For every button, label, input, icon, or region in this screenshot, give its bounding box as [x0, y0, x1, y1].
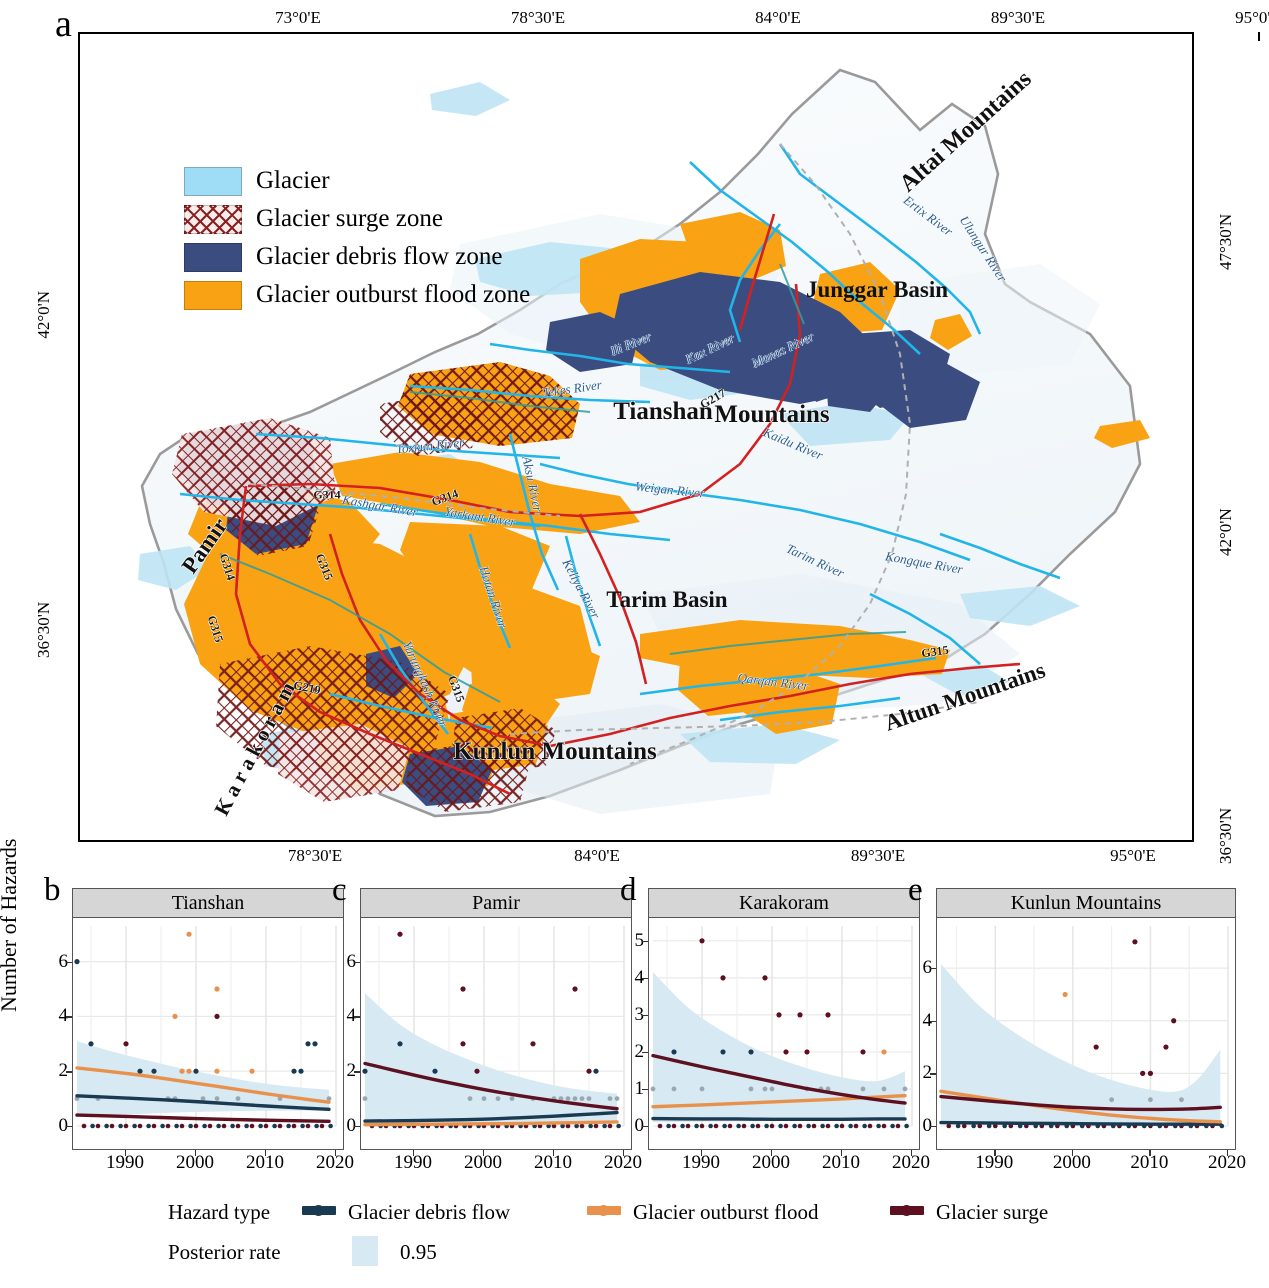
- zero-point: [152, 1124, 157, 1129]
- posterior-band-b: [77, 1041, 329, 1116]
- data-point: [214, 1014, 219, 1019]
- y-tick-mark: [642, 1015, 648, 1016]
- data-point: [861, 1087, 866, 1092]
- legend-label-glacier-outburst-flood: Glacier outburst flood: [633, 1200, 818, 1225]
- data-point: [748, 1049, 753, 1054]
- glacier-debris-flow-swatch: [184, 243, 242, 272]
- glacier-outburst-flood-swatch: [184, 281, 242, 310]
- map-legend: Glacier Glacier surge zone Glacier debri…: [184, 162, 530, 314]
- y-tick-mark: [354, 962, 360, 963]
- data-point: [482, 1096, 487, 1101]
- data-point: [249, 1069, 254, 1074]
- zero-point: [848, 1124, 853, 1129]
- zero-point: [188, 1124, 193, 1129]
- map-lat-tick-left-1: 36°30'N: [34, 602, 54, 658]
- map-tick-top-4: [1258, 32, 1260, 41]
- zero-point: [230, 1124, 235, 1129]
- legend-label-glacier-outburst-flood-zone: Glacier outburst flood zone: [256, 281, 530, 309]
- zero-point: [272, 1124, 277, 1129]
- trend-line-glacier-debris-flow: [941, 1123, 1220, 1125]
- data-point: [193, 1069, 198, 1074]
- zero-point: [680, 1124, 685, 1129]
- data-point: [573, 1096, 578, 1101]
- zero-point: [90, 1124, 95, 1129]
- zero-point: [258, 1124, 263, 1129]
- y-tick-mark: [642, 941, 648, 942]
- zero-point: [124, 1124, 129, 1129]
- panel-b-letter: b: [44, 872, 61, 909]
- x-tick-mark: [483, 1150, 484, 1156]
- data-point: [763, 1087, 768, 1092]
- plot-svg-e: [937, 918, 1234, 1150]
- panel-e-letter: e: [908, 872, 923, 909]
- data-point: [474, 1069, 479, 1074]
- data-point: [651, 1087, 656, 1092]
- data-point: [566, 1096, 571, 1101]
- plot-svg-b: [73, 918, 342, 1150]
- data-point: [762, 975, 767, 980]
- zero-point: [834, 1124, 839, 1129]
- map-lat-tick-right-2: 36°30'N: [1216, 804, 1236, 864]
- zero-point: [300, 1124, 305, 1129]
- data-point: [468, 1096, 473, 1101]
- map-frame: Glacier Glacier surge zone Glacier debri…: [78, 32, 1194, 842]
- trend-line-glacier-debris-flow: [653, 1119, 905, 1120]
- data-point: [236, 1096, 241, 1101]
- zero-point: [194, 1124, 199, 1129]
- zero-point: [736, 1124, 741, 1129]
- data-point: [363, 1096, 368, 1101]
- x-tick-mark: [335, 1150, 336, 1156]
- zero-point: [608, 1124, 613, 1129]
- data-point: [460, 1041, 465, 1046]
- x-tick-mark: [125, 1150, 126, 1156]
- data-point: [305, 1041, 310, 1046]
- zero-point: [694, 1124, 699, 1129]
- zero-point: [812, 1124, 817, 1129]
- y-axis-label: Number of Hazards: [0, 839, 22, 1013]
- legend-label-glacier-debris-flow: Glacier debris flow: [348, 1200, 510, 1225]
- data-point: [88, 1041, 93, 1046]
- plot-area-e: [936, 918, 1236, 1150]
- data-point: [214, 986, 219, 991]
- zero-point: [666, 1124, 671, 1129]
- chart-panel-e: Kunlun Mountains02461990200020102020: [936, 888, 1236, 1150]
- panel-a-map: a 73°0'E78°30'E84°0'E89°30'E95°0'E 78°30…: [0, 0, 1269, 862]
- zero-point: [174, 1124, 179, 1129]
- zero-point: [244, 1124, 249, 1129]
- data-point: [530, 1041, 535, 1046]
- hazard-trend-panels: Number of Hazards bTianshan0246199020002…: [0, 862, 1269, 1192]
- y-tick-mark: [66, 1126, 72, 1127]
- zero-point: [328, 1124, 333, 1129]
- data-point: [397, 1041, 402, 1046]
- hazard-type-label: Hazard type: [168, 1200, 270, 1225]
- data-point: [671, 1049, 676, 1054]
- data-point: [783, 1049, 788, 1054]
- zero-point: [672, 1124, 677, 1129]
- zero-point: [750, 1124, 755, 1129]
- chart-title-d: Karakoram: [648, 888, 920, 918]
- data-point: [291, 1069, 296, 1074]
- y-tick-mark: [354, 1071, 360, 1072]
- data-point: [720, 975, 725, 980]
- data-point: [510, 1096, 515, 1101]
- x-tick-mark: [413, 1150, 414, 1156]
- zero-point: [806, 1124, 811, 1129]
- legend-item-glacier-surge-zone: Glacier surge zone: [184, 200, 530, 238]
- legend-label-glacier: Glacier: [256, 167, 330, 195]
- plot-area-d: [648, 918, 920, 1150]
- panel-a-letter: a: [55, 2, 72, 46]
- zero-point: [820, 1124, 825, 1129]
- zero-point: [602, 1124, 607, 1129]
- legend-dot-glacier-debris-flow: [313, 1205, 324, 1216]
- data-point: [700, 1087, 705, 1092]
- map-lon-tick-top-1: 78°30'E: [511, 8, 565, 28]
- x-tick-mark: [553, 1150, 554, 1156]
- map-lat-tick-right-0: 47°30'N: [1216, 210, 1236, 270]
- data-point: [699, 938, 704, 943]
- zero-point: [868, 1124, 873, 1129]
- data-point: [186, 932, 191, 937]
- x-tick-mark: [1227, 1150, 1228, 1156]
- x-tick-mark: [623, 1150, 624, 1156]
- y-tick-mark: [354, 1126, 360, 1127]
- zero-point: [278, 1124, 283, 1129]
- zero-point: [714, 1124, 719, 1129]
- plot-svg-c: [361, 918, 630, 1150]
- zero-point: [896, 1124, 901, 1129]
- data-point: [1140, 1071, 1145, 1076]
- data-point: [749, 1087, 754, 1092]
- data-point: [186, 1069, 191, 1074]
- zero-point: [708, 1124, 713, 1129]
- data-point: [860, 1049, 865, 1054]
- zero-point: [882, 1124, 887, 1129]
- zero-point: [82, 1124, 87, 1129]
- x-tick-mark: [841, 1150, 842, 1156]
- zero-point: [146, 1124, 151, 1129]
- map-canvas: [80, 34, 1192, 840]
- data-point: [397, 932, 402, 937]
- zero-point: [286, 1124, 291, 1129]
- x-tick-mark: [911, 1150, 912, 1156]
- data-point: [1163, 1044, 1168, 1049]
- zero-point: [96, 1124, 101, 1129]
- legend-item-glacier-debris-flow-zone: Glacier debris flow zone: [184, 238, 530, 276]
- data-point: [1179, 1097, 1184, 1102]
- data-point: [460, 986, 465, 991]
- chart-title-c: Pamir: [360, 888, 632, 918]
- data-point: [587, 1096, 592, 1101]
- x-tick-mark: [265, 1150, 266, 1156]
- zero-point: [166, 1124, 171, 1129]
- data-point: [720, 1049, 725, 1054]
- zero-point: [138, 1124, 143, 1129]
- zero-point: [110, 1124, 115, 1129]
- zero-point: [250, 1124, 255, 1129]
- data-point: [214, 1069, 219, 1074]
- zero-point: [588, 1124, 593, 1129]
- zero-point: [890, 1124, 895, 1129]
- zero-point: [792, 1124, 797, 1129]
- y-tick-mark: [930, 1073, 936, 1074]
- zero-point: [180, 1124, 185, 1129]
- zero-point: [764, 1124, 769, 1129]
- legend-label-glacier-debris-flow-zone: Glacier debris flow zone: [256, 243, 502, 271]
- zero-point: [208, 1124, 213, 1129]
- zero-point: [770, 1124, 775, 1129]
- plot-area-b: [72, 918, 344, 1150]
- data-point: [882, 1087, 887, 1092]
- legend-label-glacier-surge: Glacier surge: [936, 1200, 1048, 1225]
- data-point: [362, 1069, 367, 1074]
- data-point: [137, 1069, 142, 1074]
- legend-label-glacier-surge-zone: Glacier surge zone: [256, 205, 443, 233]
- glacier-swatch: [184, 167, 242, 196]
- posterior-rate-label: Posterior rate: [168, 1240, 281, 1265]
- data-point: [776, 1012, 781, 1017]
- figure-root: a 73°0'E78°30'E84°0'E89°30'E95°0'E 78°30…: [0, 0, 1269, 1288]
- zero-point: [742, 1124, 747, 1129]
- zero-point: [236, 1124, 241, 1129]
- y-tick-mark: [930, 1126, 936, 1127]
- data-point: [432, 1069, 437, 1074]
- data-point: [608, 1096, 613, 1101]
- x-tick-mark: [1072, 1150, 1073, 1156]
- legend-item-glacier-outburst-flood-zone: Glacier outburst flood zone: [184, 276, 530, 314]
- zero-point: [202, 1124, 207, 1129]
- map-lon-tick-top-0: 73°0'E: [275, 8, 321, 28]
- zero-point: [778, 1124, 783, 1129]
- bottom-legend: Hazard type Posterior rate Glacier debri…: [0, 1192, 1269, 1288]
- zero-point: [320, 1124, 325, 1129]
- data-point: [797, 1012, 802, 1017]
- map-lat-tick-left-0: 42°0'N: [34, 291, 54, 347]
- data-point: [1109, 1097, 1114, 1102]
- y-tick-mark: [66, 1016, 72, 1017]
- panel-d-letter: d: [620, 872, 637, 909]
- posterior-rate-value: 0.95: [400, 1240, 437, 1265]
- zero-point: [104, 1124, 109, 1129]
- plot-svg-d: [649, 918, 918, 1150]
- data-point: [1063, 992, 1068, 997]
- map-lon-tick-top-3: 89°30'E: [991, 8, 1045, 28]
- data-point: [1148, 1097, 1153, 1102]
- chart-panel-d: Karakoram0123451990200020102020: [648, 888, 920, 1150]
- data-point: [1148, 1071, 1153, 1076]
- zero-point: [118, 1124, 123, 1129]
- zero-point: [876, 1124, 881, 1129]
- zero-point: [160, 1124, 165, 1129]
- zero-point: [700, 1124, 705, 1129]
- legend-dot-glacier-outburst-flood: [598, 1205, 609, 1216]
- data-point: [123, 1041, 128, 1046]
- zero-point: [722, 1124, 727, 1129]
- data-point: [770, 1087, 775, 1092]
- data-point: [298, 1069, 303, 1074]
- zero-point: [132, 1124, 137, 1129]
- y-tick-mark: [354, 1016, 360, 1017]
- x-tick-mark: [994, 1150, 995, 1156]
- data-point: [586, 1069, 591, 1074]
- zero-point: [826, 1124, 831, 1129]
- zero-point: [222, 1124, 227, 1129]
- zero-point: [862, 1124, 867, 1129]
- data-point: [1171, 1018, 1176, 1023]
- zero-point: [904, 1124, 909, 1129]
- map-lon-tick-top-2: 84°0'E: [755, 8, 801, 28]
- map-lon-tick-top-4: 95°0'E: [1235, 8, 1269, 28]
- y-tick-mark: [642, 1089, 648, 1090]
- data-point: [172, 1014, 177, 1019]
- chart-title-b: Tianshan: [72, 888, 344, 918]
- data-point: [580, 1096, 585, 1101]
- y-tick-mark: [642, 1126, 648, 1127]
- y-tick-mark: [66, 1071, 72, 1072]
- x-tick-mark: [701, 1150, 702, 1156]
- zero-point: [306, 1124, 311, 1129]
- zero-point: [314, 1124, 319, 1129]
- y-tick-mark: [66, 962, 72, 963]
- x-tick-mark: [771, 1150, 772, 1156]
- glacier-surge-swatch: [184, 205, 242, 234]
- data-point: [1132, 939, 1137, 944]
- data-point: [593, 1069, 598, 1074]
- chart-panel-b: Tianshan02461990200020102020: [72, 888, 344, 1150]
- plot-area-c: [360, 918, 632, 1150]
- data-point: [74, 959, 79, 964]
- data-point: [179, 1069, 184, 1074]
- data-point: [312, 1041, 317, 1046]
- y-tick-mark: [930, 968, 936, 969]
- zero-point: [216, 1124, 221, 1129]
- legend-dot-glacier-surge: [901, 1205, 912, 1216]
- zero-point: [616, 1124, 621, 1129]
- y-tick-mark: [642, 978, 648, 979]
- panel-c-letter: c: [332, 872, 347, 909]
- map-lat-tick-right-1: 42°0'N: [1216, 496, 1236, 556]
- zero-point: [728, 1124, 733, 1129]
- zero-point: [798, 1124, 803, 1129]
- y-tick-mark: [930, 1021, 936, 1022]
- x-tick-mark: [195, 1150, 196, 1156]
- zero-point: [580, 1124, 585, 1129]
- data-point: [881, 1049, 886, 1054]
- y-tick-mark: [642, 1052, 648, 1053]
- data-point: [215, 1096, 220, 1101]
- chart-title-e: Kunlun Mountains: [936, 888, 1236, 918]
- zero-point: [840, 1124, 845, 1129]
- zero-point: [756, 1124, 761, 1129]
- data-point: [672, 1087, 677, 1092]
- data-point: [903, 1087, 908, 1092]
- data-point: [804, 1049, 809, 1054]
- legend-item-glacier: Glacier: [184, 162, 530, 200]
- data-point: [615, 1096, 620, 1101]
- x-tick-mark: [1149, 1150, 1150, 1156]
- zero-point: [264, 1124, 269, 1129]
- zero-point: [854, 1124, 859, 1129]
- data-point: [825, 1012, 830, 1017]
- zero-point: [574, 1124, 579, 1129]
- posterior-rate-band-swatch: [352, 1236, 378, 1266]
- zero-point: [784, 1124, 789, 1129]
- zero-point: [658, 1124, 663, 1129]
- data-point: [496, 1096, 501, 1101]
- chart-panel-c: Pamir02461990200020102020: [360, 888, 632, 1150]
- data-point: [1094, 1044, 1099, 1049]
- data-point: [572, 986, 577, 991]
- trend-line-glacier-surge: [77, 1115, 329, 1121]
- zero-point: [686, 1124, 691, 1129]
- zero-point: [594, 1124, 599, 1129]
- zero-point: [946, 1124, 951, 1129]
- zero-point: [292, 1124, 297, 1129]
- data-point: [151, 1069, 156, 1074]
